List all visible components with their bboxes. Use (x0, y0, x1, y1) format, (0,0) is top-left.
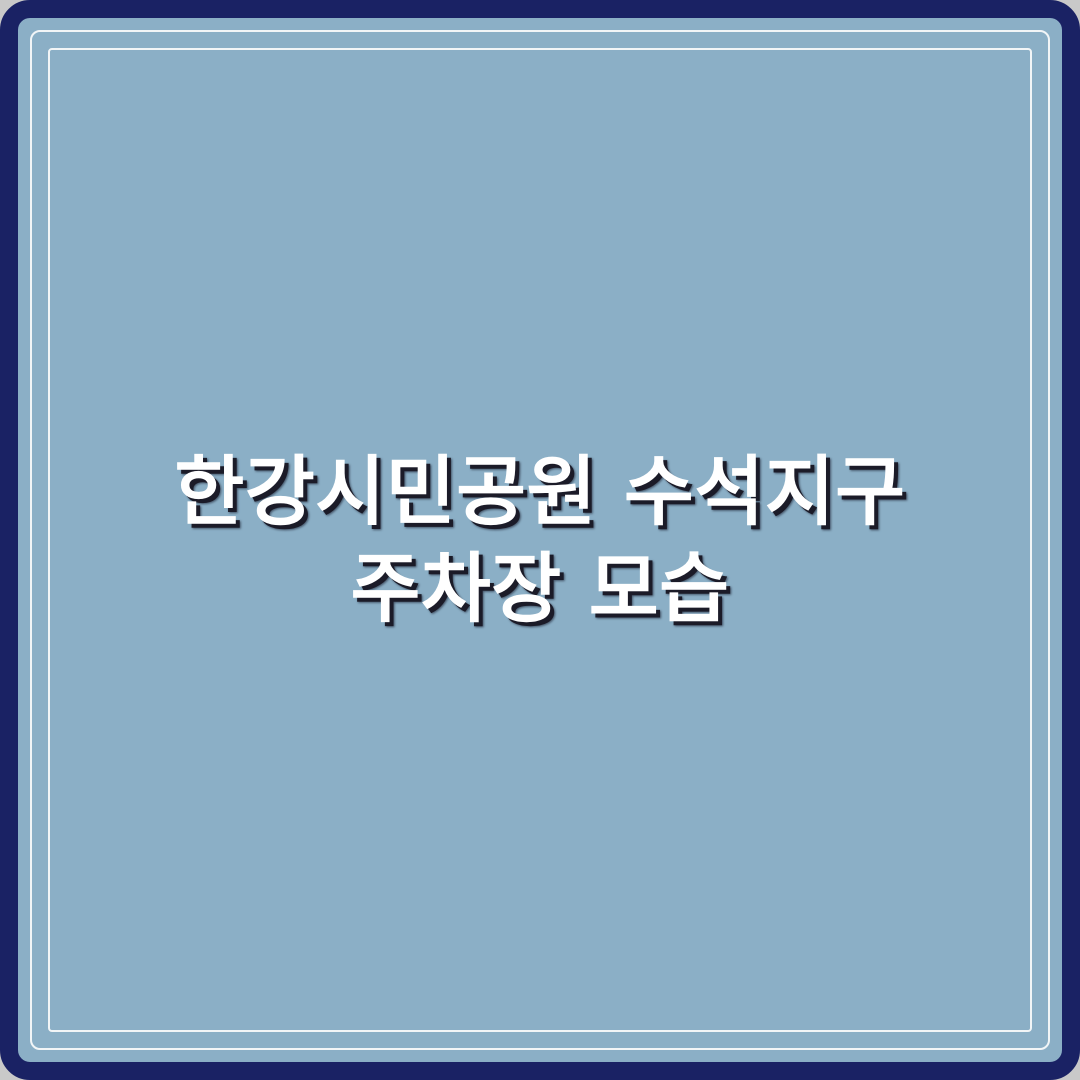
title-line-1: 한강시민공원 수석지구 (174, 443, 905, 540)
title-block: 한강시민공원 수석지구 주차장 모습 (18, 18, 1062, 1062)
title-line-2: 주차장 모습 (350, 540, 729, 637)
title-card: 한강시민공원 수석지구 주차장 모습 (0, 0, 1080, 1080)
